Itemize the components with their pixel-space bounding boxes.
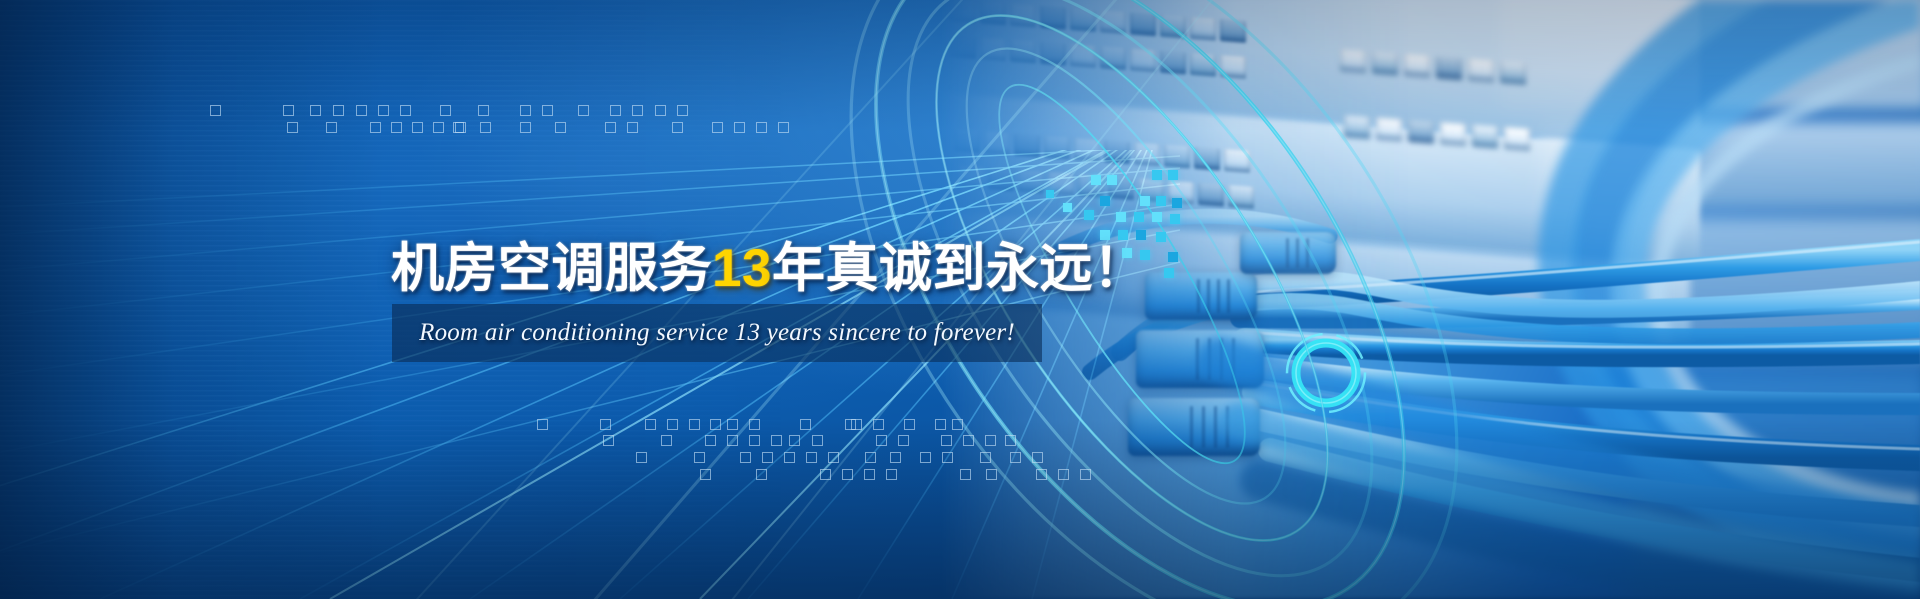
pixel-square-filled [1168, 252, 1178, 262]
headline-years-number: 13 [712, 239, 772, 298]
pixel-square-filled [1063, 203, 1072, 212]
pixel-square-filled [1156, 232, 1166, 242]
pixel-square-filled [1164, 268, 1174, 278]
pixel-squares-filled [0, 0, 1920, 599]
pixel-square-filled [1084, 210, 1094, 220]
pixel-square-filled [1170, 214, 1180, 224]
page-title: 机房空调服务13年真诚到永远！ [391, 241, 1146, 297]
pixel-square-filled [1107, 175, 1117, 185]
pixel-square-filled [1152, 170, 1162, 180]
subtitle-text: Room air conditioning service 13 years s… [392, 304, 1042, 362]
headline-part-after: 年真诚到永远！ [772, 239, 1147, 298]
pixel-square-filled [1156, 196, 1166, 206]
hero-banner: 机房空调服务13年真诚到永远！ Room air conditioning se… [0, 0, 1920, 599]
subtitle-bar: Room air conditioning service 13 years s… [392, 304, 1042, 362]
pixel-square-filled [1100, 196, 1110, 206]
headline-part-before: 机房空调服务 [391, 239, 712, 298]
pixel-square-filled [1046, 190, 1054, 198]
pixel-square-filled [1172, 198, 1182, 208]
pixel-square-filled [1134, 212, 1144, 222]
pixel-square-filled [1116, 212, 1126, 222]
pixel-square-filled [1152, 212, 1162, 222]
pixel-square-filled [1091, 175, 1101, 185]
pixel-square-filled [1140, 196, 1150, 206]
pixel-square-filled [1168, 170, 1178, 180]
